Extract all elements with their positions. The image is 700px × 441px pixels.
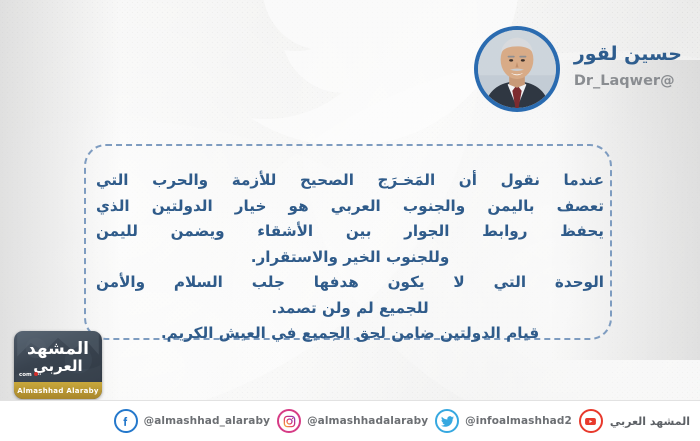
- author-name: حسين لقور: [574, 43, 682, 66]
- brand-logo: المشهد العربي com Almashhad Alaraby: [14, 331, 102, 399]
- quote-line: عندما نقول أن المَخـرَج الصحيح للأزمة وا…: [96, 168, 604, 194]
- logo-gold-strip: Almashhad Alaraby: [14, 382, 102, 399]
- quote-line: تعصف باليمن والجنوب العربي هو خيار الدول…: [96, 194, 604, 220]
- quote-text: عندما نقول أن المَخـرَج الصحيح للأزمة وا…: [96, 168, 604, 347]
- author-header: حسين لقور Dr_Laqwer@: [474, 26, 682, 112]
- quote-card: حسين لقور Dr_Laqwer@: [0, 0, 700, 441]
- avatar-ring: [474, 26, 560, 112]
- quote-line: وللجنوب الخير والاستقرار.: [96, 245, 604, 271]
- logo-red-dot-icon: [34, 372, 38, 376]
- facebook-handle[interactable]: @almashhad_alaraby: [144, 415, 270, 427]
- instagram-icon[interactable]: [277, 409, 301, 433]
- twitter-icon[interactable]: [435, 409, 459, 433]
- social-item-facebook[interactable]: @almashhad_alaraby: [114, 409, 270, 433]
- footer-bar: المشهد العربي @infoalmashhad2: [0, 400, 700, 441]
- quote-line: الوحدة التي لا يكون هدفها جلب السلام وال…: [96, 270, 604, 296]
- author-text-block: حسين لقور Dr_Laqwer@: [574, 43, 682, 94]
- quote-line: يحفظ روابط الجوار بين الأشقاء ويضمن لليم…: [96, 219, 604, 245]
- social-item-youtube[interactable]: [579, 409, 603, 433]
- avatar: [478, 30, 556, 108]
- social-item-instagram[interactable]: @almashhadalaraby: [277, 409, 428, 433]
- instagram-handle[interactable]: @almashhadalaraby: [307, 415, 428, 427]
- quote-line: قيام الدولتين ضامن لحق الجميع في العيش ا…: [96, 321, 604, 347]
- logo-arabic-text: المشهد العربي: [14, 341, 102, 375]
- twitter-handle[interactable]: @infoalmashhad2: [465, 415, 572, 427]
- logo-latin-name: Almashhad Alaraby: [17, 387, 99, 395]
- logo-com-label: com: [19, 372, 32, 378]
- footer-brand-label: المشهد العربي: [610, 415, 690, 428]
- footer-brand: المشهد العربي: [610, 415, 690, 428]
- social-links: المشهد العربي @infoalmashhad2: [108, 409, 690, 433]
- youtube-icon[interactable]: [579, 409, 603, 433]
- social-item-twitter[interactable]: @infoalmashhad2: [435, 409, 572, 433]
- author-handle: Dr_Laqwer@: [574, 73, 675, 90]
- facebook-icon[interactable]: [114, 409, 138, 433]
- quote-line: للجميع لم ولن تصمد.: [96, 296, 604, 322]
